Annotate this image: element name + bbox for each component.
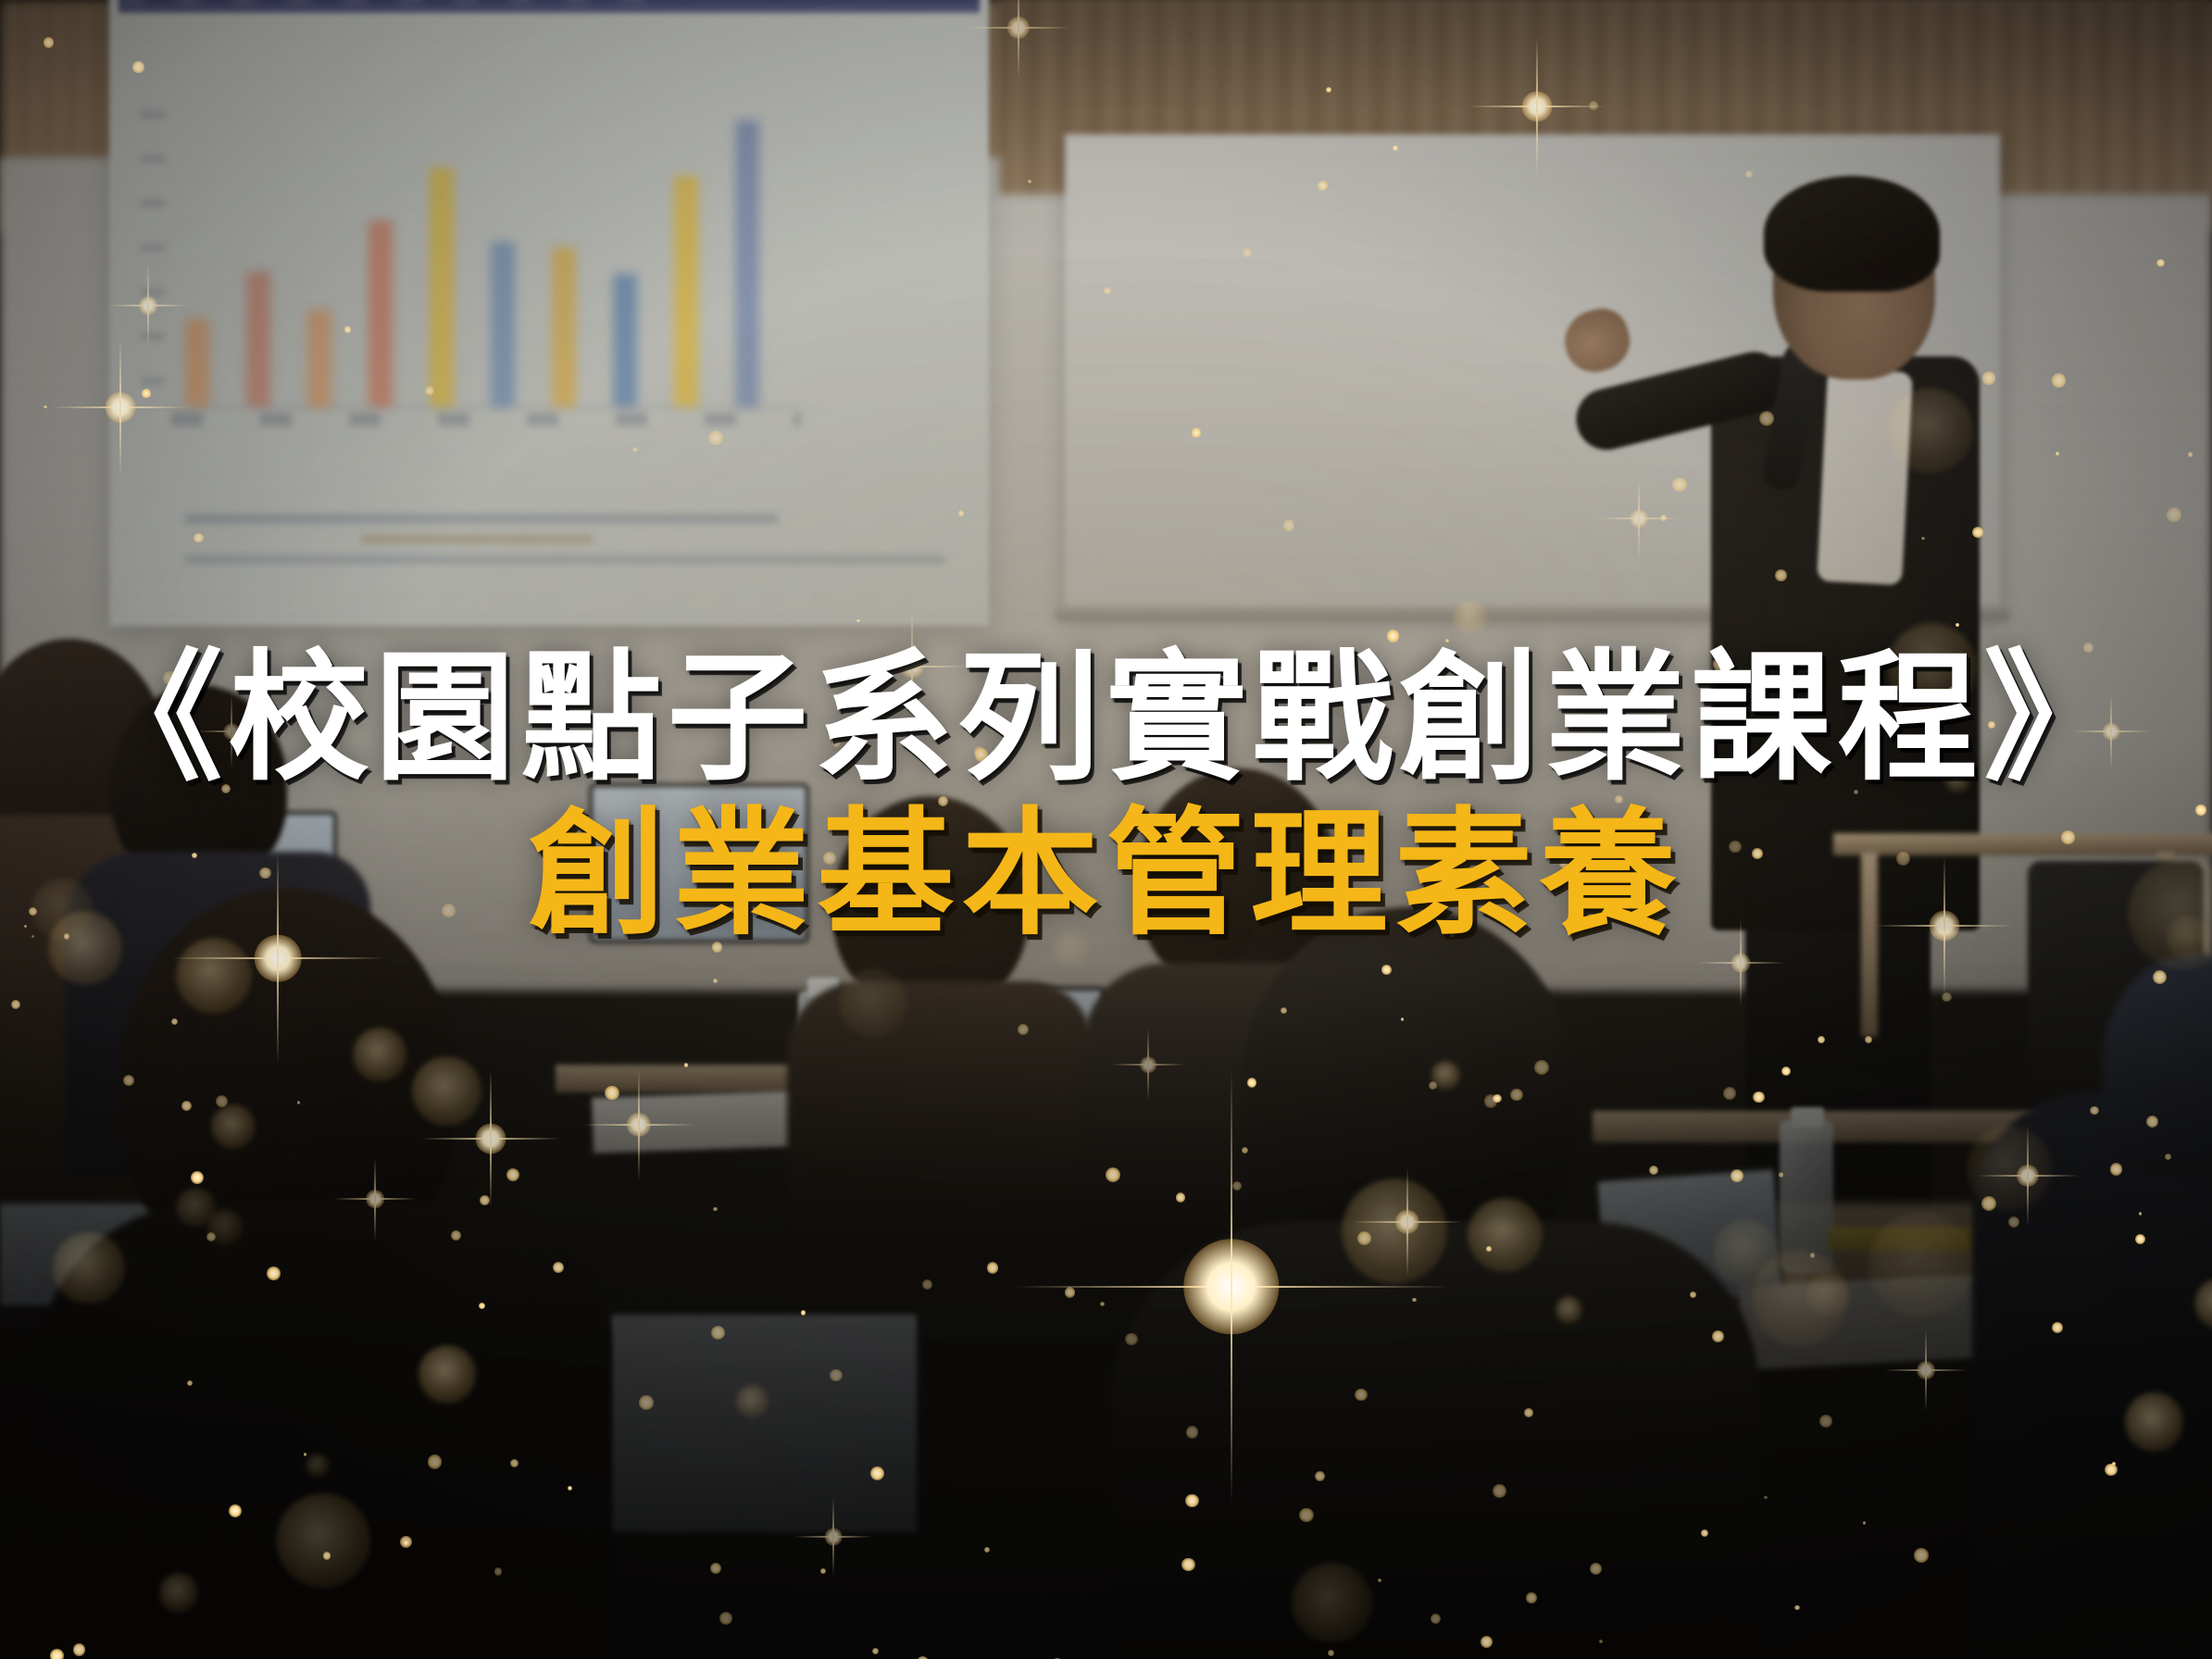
laptop-5 — [611, 1315, 917, 1532]
chart-axis-line — [167, 405, 796, 407]
speaker-hair — [1764, 176, 1940, 292]
chart-bar — [369, 220, 393, 407]
table-leg-1 — [1861, 852, 1878, 1037]
chart-bar — [735, 120, 759, 407]
bottle-cap-2 — [1791, 1107, 1824, 1128]
slide-footer-line-2 — [185, 555, 944, 564]
chart-bar — [552, 247, 576, 407]
chart-bar — [307, 309, 331, 407]
chart-bar — [674, 176, 698, 407]
speaker-shirt — [1817, 368, 1913, 585]
chart-bar — [430, 168, 454, 407]
chart-x-tick-labels — [171, 413, 801, 426]
chart-y-tick-labels — [141, 111, 165, 389]
audience-body-4 — [787, 981, 1093, 1259]
chart-bar — [185, 318, 209, 407]
chart-bar — [613, 274, 637, 407]
audience-body-6 — [1111, 1222, 1759, 1659]
audience-body-8 — [0, 1342, 343, 1659]
banner-canvas: 《校園點子系列實戰創業課程》 創業基本管理素養 — [0, 0, 2212, 1659]
audience-body-7 — [1972, 1092, 2212, 1659]
slide-footer-highlight — [361, 535, 593, 543]
table-back-right — [1833, 833, 2212, 855]
audience-head-4 — [833, 796, 1028, 1009]
classroom-photo — [0, 0, 2212, 1659]
slide-bar-chart — [185, 111, 759, 407]
laptop-2 — [593, 787, 806, 940]
chart-bar — [491, 242, 515, 407]
slide-footer-line-1 — [185, 515, 778, 523]
chart-bar — [246, 271, 270, 407]
audience-head-6 — [1241, 907, 1574, 1268]
water-bottle-2 — [1780, 1120, 1833, 1273]
slide-header-title-blur — [120, 0, 676, 4]
